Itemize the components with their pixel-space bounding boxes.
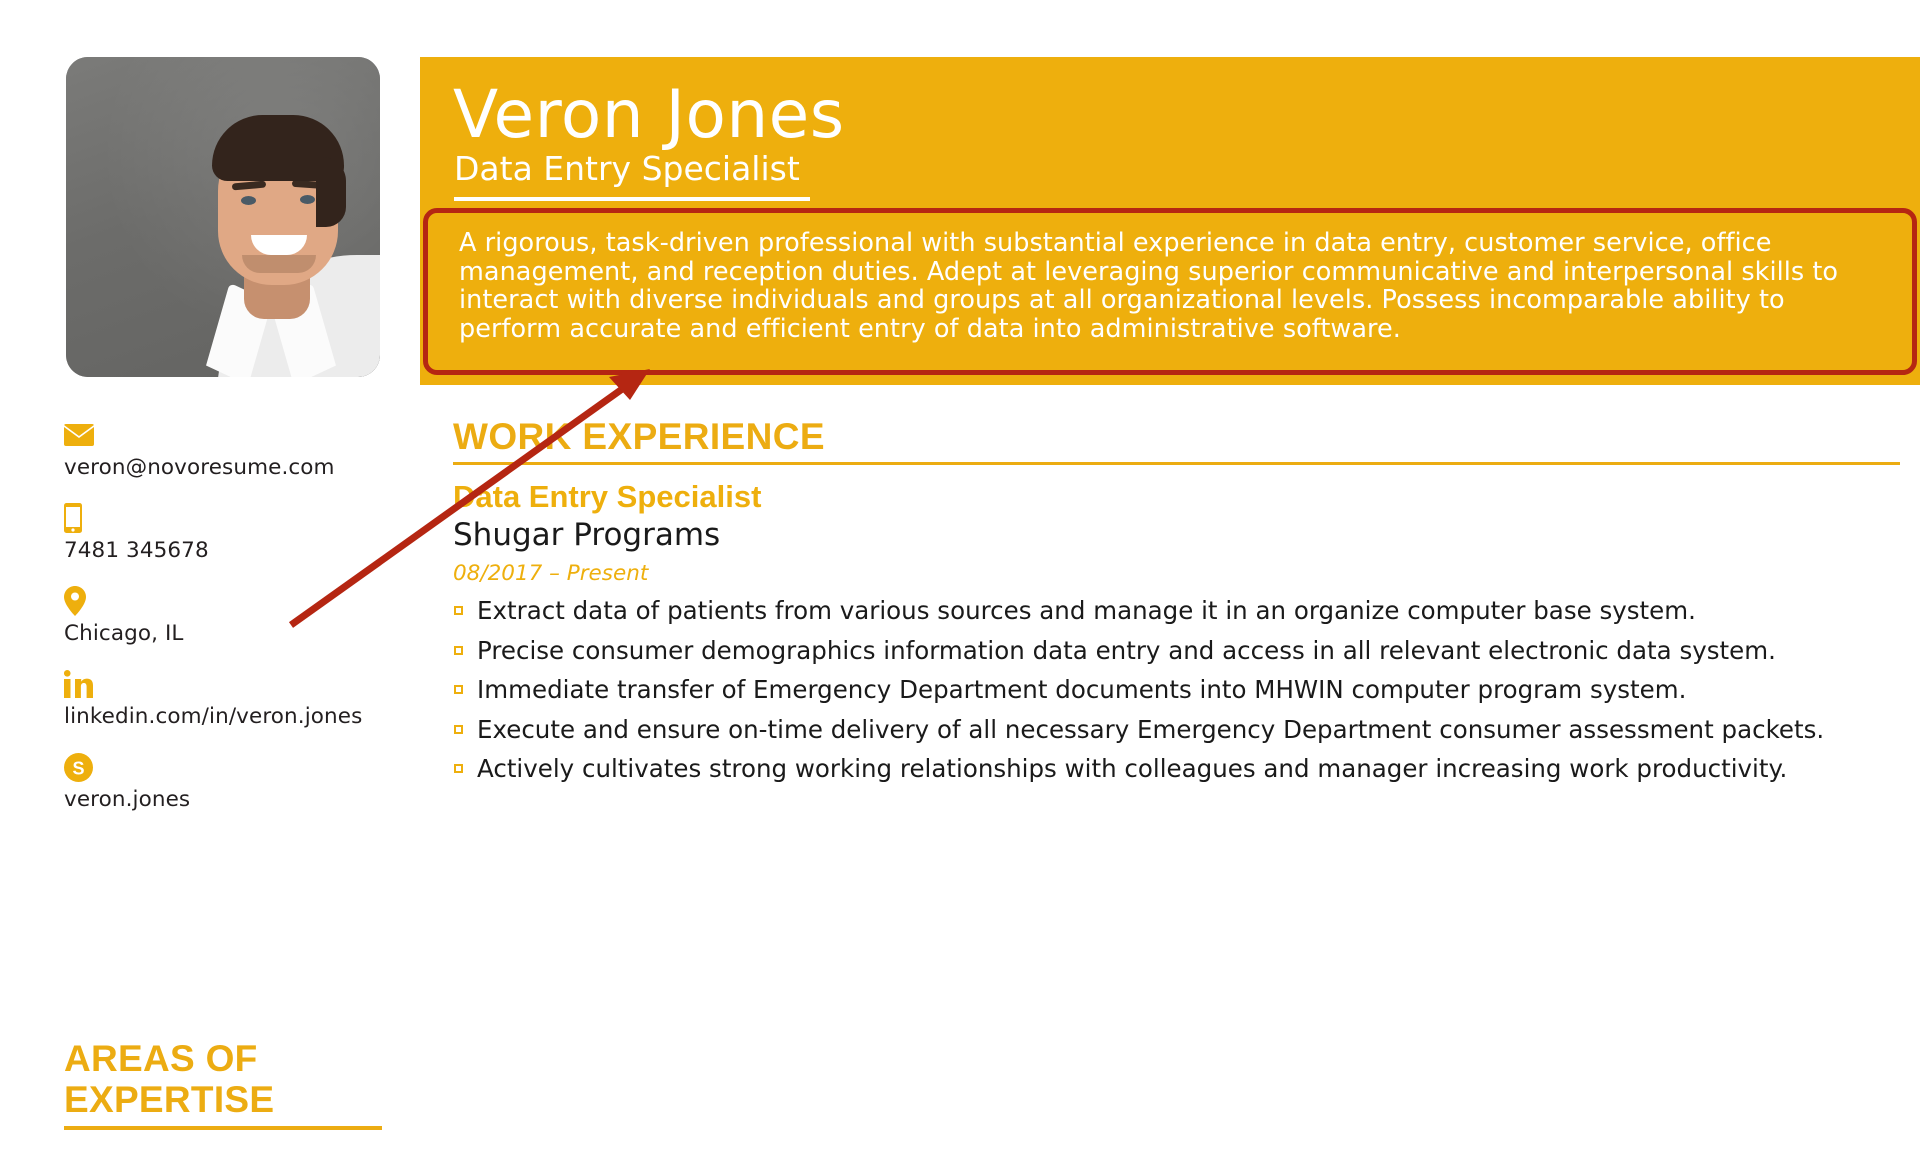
square-bullet-icon <box>454 646 463 655</box>
contact-value-location: Chicago, IL <box>64 621 404 647</box>
areas-heading-rule <box>64 1126 382 1130</box>
job-title: Data Entry Specialist <box>453 479 1900 515</box>
list-item: Execute and ensure on-time delivery of a… <box>453 716 1893 745</box>
portrait-hair-side <box>316 157 346 227</box>
contact-value-phone: 7481 345678 <box>64 538 404 564</box>
list-item: Precise consumer demographics informatio… <box>453 637 1893 666</box>
job-dates: 08/2017 – Present <box>453 561 1900 587</box>
work-experience-section-heading: WORK EXPERIENCE <box>453 416 1900 465</box>
square-bullet-icon <box>454 685 463 694</box>
linkedin-icon <box>64 669 404 699</box>
sidebar: veron@novoresume.com 7481 345678 <box>0 0 420 1154</box>
skype-icon: S <box>64 752 404 782</box>
portrait-eye-right <box>300 195 315 204</box>
phone-icon <box>64 503 404 533</box>
work-experience-rule <box>453 462 1900 465</box>
duty-text: Actively cultivates strong working relat… <box>477 754 1787 783</box>
work-experience-title: WORK EXPERIENCE <box>453 416 1900 457</box>
square-bullet-icon <box>454 725 463 734</box>
job-entry: Data Entry Specialist Shugar Programs 08… <box>453 479 1900 795</box>
summary-text: A rigorous, task-driven professional wit… <box>459 229 1883 343</box>
portrait-eye-left <box>241 196 256 205</box>
square-bullet-icon <box>454 606 463 615</box>
contact-value-linkedin: linkedin.com/in/veron.jones <box>64 704 404 730</box>
duty-text: Extract data of patients from various so… <box>477 596 1696 625</box>
duty-text: Execute and ensure on-time delivery of a… <box>477 715 1824 744</box>
list-item: Extract data of patients from various so… <box>453 597 1893 626</box>
areas-of-expertise-heading: AREAS OF EXPERTISE <box>64 1038 384 1130</box>
page-title: Veron Jones <box>453 79 845 151</box>
job-company: Shugar Programs <box>453 516 1900 554</box>
portrait-chin-shadow <box>242 255 316 273</box>
header-title-rule <box>454 197 810 201</box>
contact-item-skype: S veron.jones <box>64 752 404 813</box>
summary-highlight-box: A rigorous, task-driven professional wit… <box>423 208 1917 375</box>
email-icon <box>64 420 404 450</box>
list-item: Immediate transfer of Emergency Departme… <box>453 676 1893 705</box>
header-band: Veron Jones Data Entry Specialist A rigo… <box>420 57 1920 385</box>
svg-text:S: S <box>72 758 84 778</box>
contact-item-linkedin: linkedin.com/in/veron.jones <box>64 669 404 730</box>
duty-text: Immediate transfer of Emergency Departme… <box>477 675 1686 704</box>
contact-item-email: veron@novoresume.com <box>64 420 404 481</box>
list-item: Actively cultivates strong working relat… <box>453 755 1893 784</box>
square-bullet-icon <box>454 764 463 773</box>
resume-page: veron@novoresume.com 7481 345678 <box>0 0 1920 1154</box>
contact-value-skype: veron.jones <box>64 787 404 813</box>
location-icon <box>64 586 404 616</box>
main-column: Veron Jones Data Entry Specialist A rigo… <box>420 0 1920 1154</box>
areas-heading-line-1: AREAS OF <box>64 1038 384 1079</box>
header-job-title: Data Entry Specialist <box>454 150 800 188</box>
contact-list: veron@novoresume.com 7481 345678 <box>64 420 404 835</box>
profile-photo <box>66 57 380 377</box>
contact-item-location: Chicago, IL <box>64 586 404 647</box>
contact-item-phone: 7481 345678 <box>64 503 404 564</box>
duty-text: Precise consumer demographics informatio… <box>477 636 1776 665</box>
job-duties-list: Extract data of patients from various so… <box>453 597 1893 784</box>
areas-heading-line-2: EXPERTISE <box>64 1079 384 1120</box>
contact-value-email: veron@novoresume.com <box>64 455 404 481</box>
